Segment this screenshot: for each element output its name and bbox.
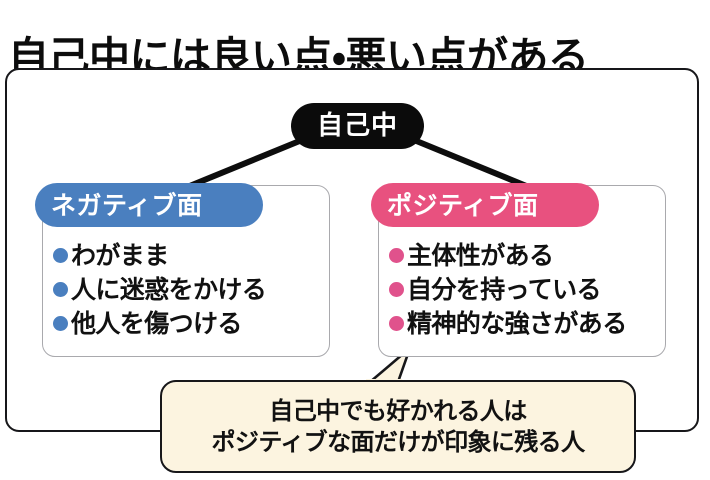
bullet-dot-icon <box>53 316 68 331</box>
list-item: 主体性がある <box>389 238 659 272</box>
card-positive-header: ポジティブ面 <box>371 183 599 227</box>
card-positive-header-label: ポジティブ面 <box>387 193 539 218</box>
list-item: わがまま <box>53 238 323 272</box>
list-item-label: 人に迷惑をかける <box>71 277 266 302</box>
list-item-label: 自分を持っている <box>407 277 601 302</box>
list-item-label: 精神的な強さがある <box>407 311 627 336</box>
bullet-dot-icon <box>389 316 404 331</box>
list-item-label: わがまま <box>71 243 169 268</box>
list-item: 精神的な強さがある <box>389 306 659 340</box>
card-positive[interactable]: ポジティブ面 主体性がある 自分を持っている 精神的な強さがある <box>378 185 666 357</box>
bullet-dot-icon <box>389 282 404 297</box>
list-item-label: 主体性がある <box>407 243 553 268</box>
card-negative[interactable]: ネガティブ面 わがまま 人に迷惑をかける 他人を傷つける <box>42 185 330 357</box>
card-negative-header-label: ネガティブ面 <box>51 193 203 218</box>
bullet-dot-icon <box>53 282 68 297</box>
callout-box: 自己中でも好かれる人は ポジティブな面だけが印象に残る人 <box>160 380 636 473</box>
list-item-label: 他人を傷つける <box>71 311 242 336</box>
root-node-label: 自己中 <box>317 113 398 139</box>
card-negative-bullet-list: わがまま 人に迷惑をかける 他人を傷つける <box>53 238 323 340</box>
root-node-jikochu[interactable]: 自己中 <box>291 103 424 149</box>
bullet-dot-icon <box>53 248 68 263</box>
bullet-dot-icon <box>389 248 404 263</box>
infographic-page: 自己中には良い点・悪い点がある 自己中 ネガティブ面 わがまま 人に迷惑をかける… <box>0 0 710 480</box>
card-negative-header: ネガティブ面 <box>35 183 263 227</box>
callout-line-1: 自己中でも好かれる人は <box>269 397 526 426</box>
card-positive-bullet-list: 主体性がある 自分を持っている 精神的な強さがある <box>389 238 659 340</box>
list-item: 人に迷惑をかける <box>53 272 323 306</box>
list-item: 自分を持っている <box>389 272 659 306</box>
callout-line-2: ポジティブな面だけが印象に残る人 <box>212 428 585 457</box>
list-item: 他人を傷つける <box>53 306 323 340</box>
